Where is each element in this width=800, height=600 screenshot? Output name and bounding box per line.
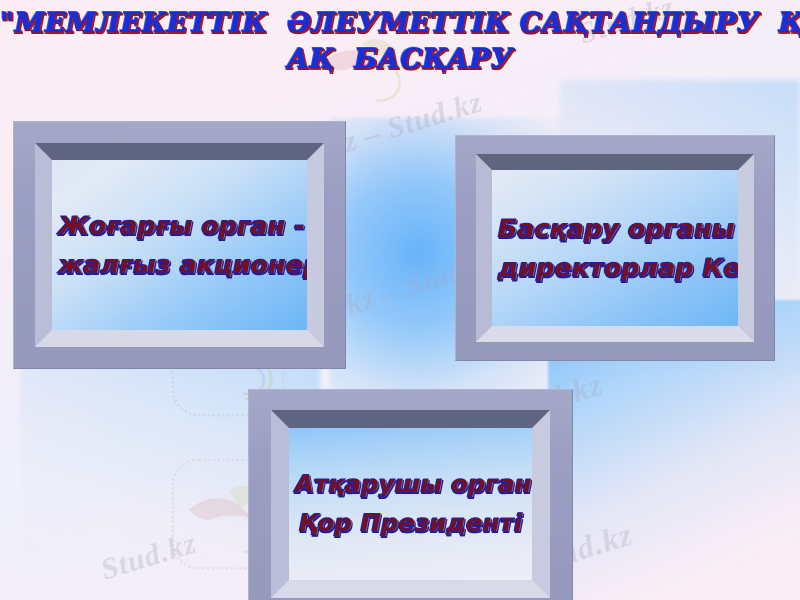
frame-bevel: Атқарушы орган - Қор Президенті [271, 410, 550, 598]
box-caption: Басқару органы - директорлар Кеңесі [492, 209, 738, 287]
box-supreme-body[interactable]: Жоғарғы орган - жалғыз акционер [13, 121, 346, 369]
box-caption-line-1: Басқару органы - [498, 209, 732, 248]
picture-area: Атқарушы орган - Қор Президенті [289, 428, 532, 580]
box-caption-line-2: директорлар Кеңесі [498, 248, 732, 287]
box-caption-line-1: Жоғарғы орган - [58, 206, 301, 245]
box-caption-line-2: жалғыз акционер [58, 245, 301, 284]
picture-area: Басқару органы - директорлар Кеңесі [492, 170, 738, 326]
frame-bevel: Жоғарғы орган - жалғыз акционер [35, 143, 324, 347]
frame-bevel: Басқару органы - директорлар Кеңесі [476, 154, 754, 342]
slide-title-line-1: "МЕМЛЕКЕТТІК ӘЛЕУМЕТТІК САҚТАНДЫРУ ҚОРЫ" [0, 6, 800, 42]
slide-title-line-2: АҚ БАСҚАРУ [0, 42, 800, 78]
presentation-slide: Stud.kz – Stud.kz Stud.kz – Stud.kz Stud… [0, 0, 800, 600]
box-caption: Жоғарғы орган - жалғыз акционер [52, 206, 307, 284]
watermark-text: Stud.kz [97, 526, 201, 587]
box-governing-body[interactable]: Басқару органы - директорлар Кеңесі [455, 135, 775, 361]
box-caption-line-1: Атқарушы орган - [295, 465, 526, 504]
box-caption: Атқарушы орган - Қор Президенті [289, 465, 532, 543]
box-caption-line-2: Қор Президенті [295, 504, 526, 543]
slide-title: "МЕМЛЕКЕТТІК ӘЛЕУМЕТТІК САҚТАНДЫРУ ҚОРЫ"… [0, 6, 800, 78]
box-executive-body[interactable]: Атқарушы орган - Қор Президенті [248, 389, 573, 600]
picture-area: Жоғарғы орган - жалғыз акционер [52, 160, 307, 330]
